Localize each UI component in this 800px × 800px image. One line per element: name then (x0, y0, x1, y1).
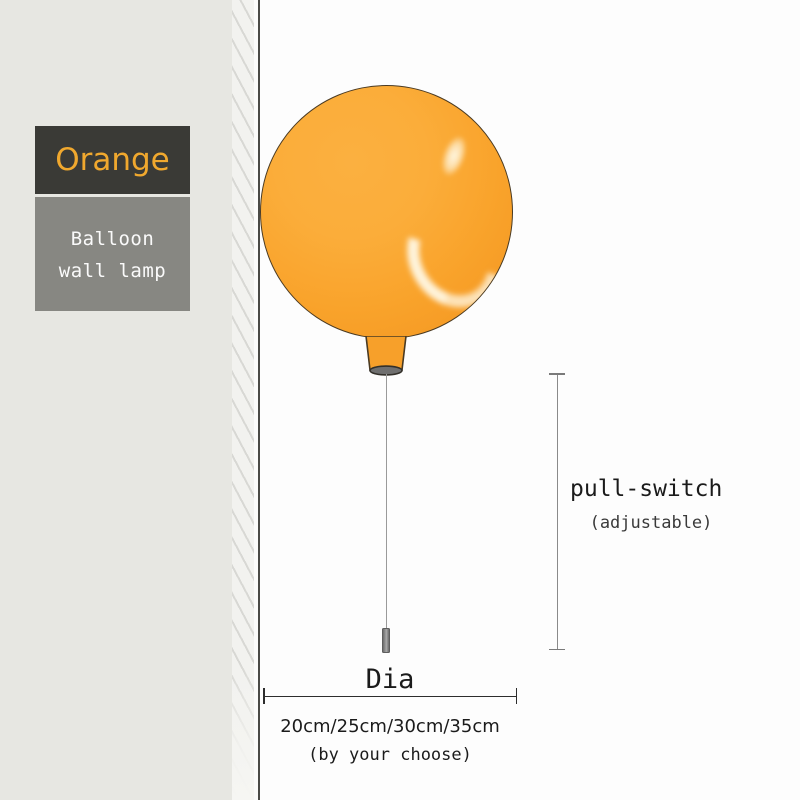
color-label-text: Orange (55, 142, 170, 178)
diameter-options: 20cm/25cm/30cm/35cm (253, 716, 527, 737)
wall-surface-left (0, 0, 236, 800)
diameter-dimension-line (263, 696, 517, 698)
diameter-label: Dia (263, 664, 517, 695)
pull-switch-label: pull-switch (570, 476, 722, 502)
pull-handle-icon[interactable] (382, 628, 390, 653)
product-name-box: Balloon wall lamp (35, 197, 190, 311)
diameter-dimension-tick-right (516, 688, 518, 704)
product-illustration: Orange Balloon wall lamp pull-switch (ad… (0, 0, 800, 800)
diameter-note: (by your choose) (253, 745, 527, 765)
pull-switch-note: (adjustable) (570, 513, 732, 533)
balloon-highlight-crescent (390, 189, 513, 324)
balloon-highlight-oval (438, 134, 470, 178)
switch-dimension-line (557, 373, 558, 650)
switch-dimension-tick-bottom (549, 649, 565, 651)
diameter-dimension-tick-left (263, 688, 265, 704)
color-label-box: Orange (35, 126, 190, 194)
wall-edge-line (258, 0, 260, 800)
balloon-icon (260, 85, 513, 339)
product-name-line2: wall lamp (59, 260, 166, 282)
switch-dimension-tick-top (549, 373, 565, 375)
product-name-line1: Balloon (71, 228, 155, 250)
pull-cord-icon (386, 374, 388, 632)
balloon-neck-icon (363, 336, 409, 376)
